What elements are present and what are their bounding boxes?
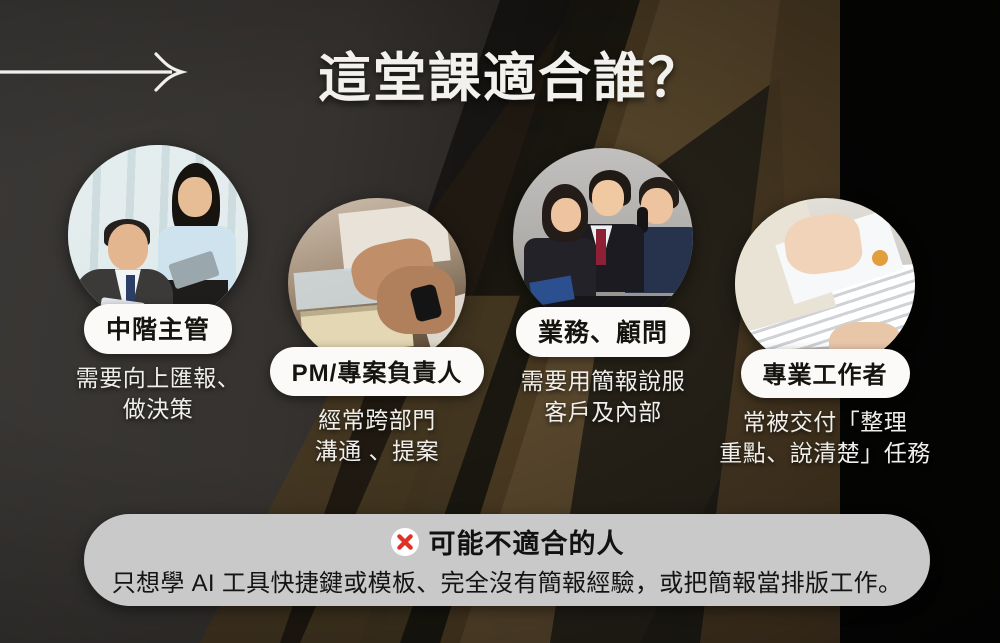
persona-card-sales-consultant: 業務、顧問 需要用簡報說服 客戶及內部 xyxy=(478,148,728,427)
persona-photo-pm xyxy=(288,198,466,368)
notice-heading: 可能不適合的人 xyxy=(429,522,625,561)
notice-bar: 可能不適合的人 只想學 AI 工具快捷鍵或模板、完全沒有簡報經驗，或把簡報當排版… xyxy=(84,514,930,606)
persona-desc-sales-consultant: 需要用簡報說服 客戶及內部 xyxy=(478,366,728,427)
persona-pill-pm: PM/專案負責人 xyxy=(270,347,485,396)
persona-desc-line: 溝通 、提案 xyxy=(252,436,502,467)
persona-desc-mid-manager: 需要向上匯報、 做決策 xyxy=(33,363,283,424)
persona-card-pm: PM/專案負責人 經常跨部門 溝通 、提案 xyxy=(252,198,502,466)
persona-desc-line: 客戶及內部 xyxy=(478,397,728,428)
page-title: 這堂課適合誰？ xyxy=(318,36,703,112)
red-x-circle-icon xyxy=(390,527,420,557)
persona-pill-professional: 專業工作者 xyxy=(741,349,910,398)
notice-body: 只想學 AI 工具快捷鍵或模板、完全沒有簡報經驗，或把簡報當排版工作。 xyxy=(112,563,903,598)
persona-pill-sales-consultant: 業務、顧問 xyxy=(516,307,690,357)
notice-heading-row: 可能不適合的人 xyxy=(390,522,625,561)
slide-canvas: 這堂課適合誰？ 中階主管 需要向上匯報、 做決策 xyxy=(0,0,1000,643)
persona-photo-professional xyxy=(735,198,915,370)
persona-desc-line: 常被交付「整理 xyxy=(700,407,950,438)
persona-photo-mid-manager xyxy=(68,145,248,325)
persona-card-mid-manager: 中階主管 需要向上匯報、 做決策 xyxy=(33,145,283,424)
persona-pill-mid-manager: 中階主管 xyxy=(84,304,232,354)
persona-desc-line: 經常跨部門 xyxy=(252,405,502,436)
persona-desc-pm: 經常跨部門 溝通 、提案 xyxy=(252,405,502,466)
persona-desc-line: 需要向上匯報、 xyxy=(33,363,283,394)
persona-desc-line: 做決策 xyxy=(33,394,283,425)
persona-desc-professional: 常被交付「整理 重點、說清楚」任務 xyxy=(700,407,950,468)
persona-desc-line: 需要用簡報說服 xyxy=(478,366,728,397)
persona-photo-sales-consultant xyxy=(513,148,693,328)
persona-card-professional: 專業工作者 常被交付「整理 重點、說清楚」任務 xyxy=(700,198,950,468)
persona-desc-line: 重點、說清楚」任務 xyxy=(700,438,950,469)
arrow-right-icon xyxy=(0,48,196,96)
